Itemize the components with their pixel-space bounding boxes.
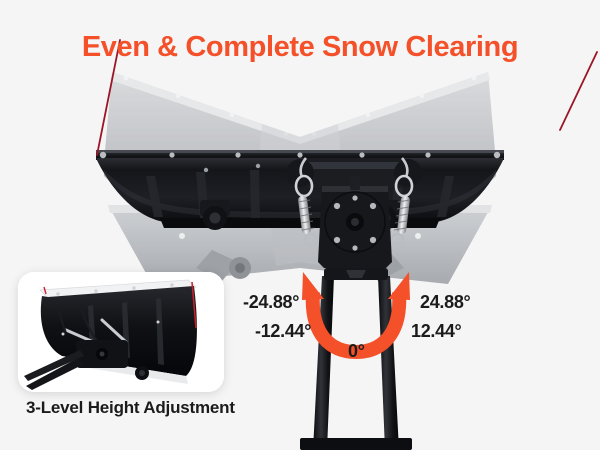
pivot-hub-plate [318, 176, 392, 268]
angle-label-positive-24: 24.88° [420, 292, 470, 313]
angle-label-negative-24: -24.88° [243, 292, 299, 313]
page-title: Even & Complete Snow Clearing [0, 31, 600, 64]
post-base-plate [300, 438, 412, 450]
angle-label-zero: 0° [348, 341, 365, 362]
arc-arrowhead-left [302, 272, 324, 300]
inset-caption: 3-Level Height Adjustment [26, 398, 235, 418]
height-adjustment-inset-card [18, 272, 224, 392]
angle-label-positive-12: 12.44° [411, 321, 461, 342]
inset-plow-image [18, 272, 224, 392]
post-cross-brace [324, 268, 388, 280]
promo-graphic-root: Even & Complete Snow Clearing -24.88° -1… [0, 0, 600, 450]
rotation-arc-arrow [302, 272, 410, 352]
angle-label-negative-12: -12.44° [255, 321, 311, 342]
